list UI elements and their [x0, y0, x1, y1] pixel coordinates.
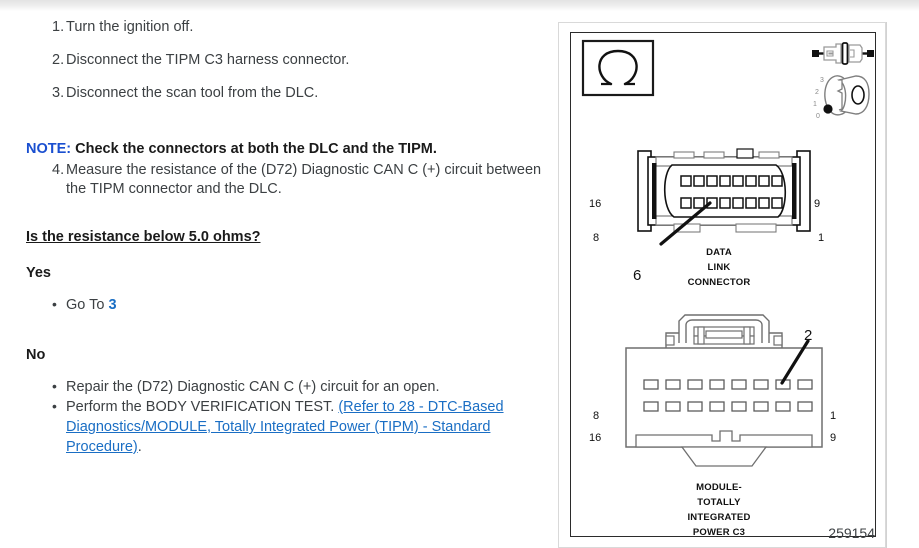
- key-position-3: 3: [820, 77, 824, 84]
- verification-instruction: Perform the BODY VERIFICATION TEST.: [66, 399, 338, 415]
- figure-number: 259154: [828, 525, 875, 541]
- bullet-icon: •: [52, 376, 57, 396]
- list-item: • Go To 3: [0, 295, 556, 315]
- list-item: 3. Disconnect the scan tool from the DLC…: [0, 84, 556, 103]
- list-item: 4. Measure the resistance of the (D72) D…: [0, 161, 556, 199]
- bullet-icon: •: [52, 294, 57, 314]
- step-text: Turn the ignition off.: [66, 18, 556, 37]
- key-position-1: 1: [813, 101, 817, 108]
- list-item: • Perform the BODY VERIFICATION TEST. (R…: [0, 397, 556, 457]
- tipm-pin-label-right-bottom: 9: [830, 432, 836, 444]
- yes-answer-list: • Go To 3: [0, 295, 556, 315]
- figure-frame: 3 2 1 0: [570, 32, 876, 537]
- reference-link-line2: Diagnostics/MODULE, Totally Integrated P…: [66, 419, 490, 455]
- tipm-caption-line4: POWER C3: [659, 526, 779, 540]
- note-label: NOTE:: [26, 141, 71, 157]
- tipm-caption-line1: MODULE-: [659, 481, 779, 495]
- ohm-resistance-icon: [581, 39, 655, 97]
- reference-link-line1: (Refer to 28 - DTC-Based: [338, 399, 503, 415]
- decision-question: Is the resistance below 5.0 ohms?: [0, 227, 556, 247]
- dlc-pin-label-left-bottom: 8: [593, 232, 599, 244]
- note-block: NOTE: Check the connectors at both the D…: [0, 139, 556, 159]
- figure-panel: 3 2 1 0: [558, 22, 886, 548]
- bullet-icon: •: [52, 396, 57, 416]
- dlc-caption-line3: CONNECTOR: [664, 276, 774, 290]
- disconnected-connector-icon: [812, 41, 874, 67]
- tipm-pin-label-left-top: 8: [593, 410, 599, 422]
- tipm-callout-pin-2: 2: [804, 327, 812, 344]
- key-position-0: 0: [816, 113, 820, 120]
- procedure-text-column: 1. Turn the ignition off. 2. Disconnect …: [0, 18, 556, 548]
- data-link-connector-diagram: [586, 141, 862, 281]
- dlc-caption-line2: LINK: [664, 261, 774, 275]
- goto-prefix: Go To: [66, 297, 108, 313]
- list-item: • Repair the (D72) Diagnostic CAN C (+) …: [0, 377, 556, 397]
- tipm-caption-line2: TOTALLY: [659, 496, 779, 510]
- window-top-strip: [0, 0, 919, 11]
- list-item: 1. Turn the ignition off.: [0, 18, 556, 37]
- tipm-pin-label-right-top: 1: [830, 410, 836, 422]
- yes-heading: Yes: [0, 263, 556, 283]
- numbered-step-list: 1. Turn the ignition off. 2. Disconnect …: [0, 18, 556, 103]
- step-text: Disconnect the TIPM C3 harness connector…: [66, 51, 556, 70]
- step-number: 4.: [52, 161, 64, 180]
- step-number: 2.: [52, 51, 64, 70]
- step-text: Disconnect the scan tool from the DLC.: [66, 84, 556, 103]
- step-number: 3.: [52, 84, 64, 103]
- goto-step-link[interactable]: 3: [108, 297, 116, 313]
- list-item: 2. Disconnect the TIPM C3 harness connec…: [0, 51, 556, 70]
- ignition-key-icon: 3 2 1 0: [809, 73, 877, 125]
- dlc-pin-label-right-top: 9: [814, 198, 820, 210]
- step-number: 1.: [52, 18, 64, 37]
- dlc-callout-pin-6: 6: [633, 267, 641, 284]
- dlc-pin-label-left-top: 16: [589, 198, 601, 210]
- tipm-c3-connector-diagram: [586, 303, 862, 478]
- tipm-caption-line3: INTEGRATED: [659, 511, 779, 525]
- note-text: Check the connectors at both the DLC and…: [75, 141, 437, 157]
- no-answer-list: • Repair the (D72) Diagnostic CAN C (+) …: [0, 377, 556, 457]
- page-root: 1. Turn the ignition off. 2. Disconnect …: [0, 0, 919, 548]
- tipm-pin-label-left-bottom: 16: [589, 432, 601, 444]
- dlc-caption-line1: DATA: [664, 246, 774, 260]
- sentence-period: .: [138, 439, 142, 455]
- no-heading: No: [0, 345, 556, 365]
- repair-instruction: Repair the (D72) Diagnostic CAN C (+) ci…: [66, 379, 440, 395]
- key-position-2: 2: [815, 89, 819, 96]
- dlc-pin-label-right-bottom: 1: [818, 232, 824, 244]
- page-right-border: [886, 22, 887, 548]
- step-text-line2: TIPM connector and the DLC.: [90, 181, 282, 197]
